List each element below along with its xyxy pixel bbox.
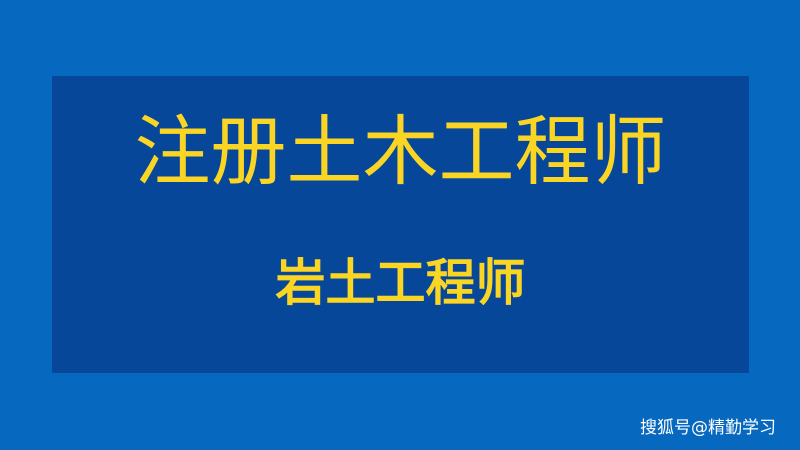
page-subtitle: 岩土工程师 — [52, 254, 749, 312]
slide-canvas: 注册土木工程师 岩土工程师 搜狐号@精勤学习 — [0, 0, 800, 450]
watermark-text: 搜狐号@精勤学习 — [640, 418, 776, 438]
title-panel: 注册土木工程师 岩土工程师 — [52, 76, 749, 373]
page-title: 注册土木工程师 — [52, 109, 749, 195]
